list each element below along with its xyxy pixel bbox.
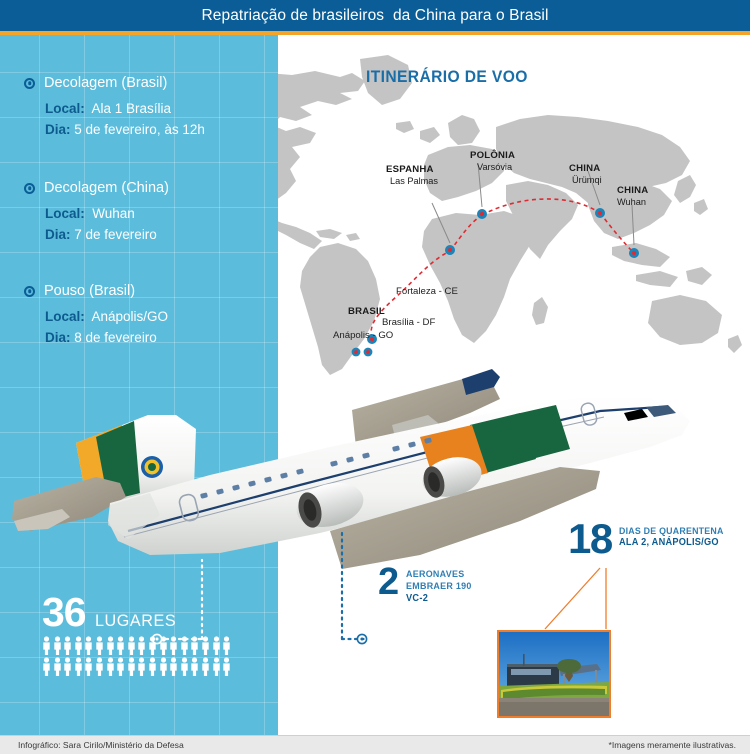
person-icon <box>127 657 136 676</box>
map-label-polonia-city: Varsóvia <box>477 162 512 172</box>
stat-seats-number: 36 <box>42 592 86 632</box>
stat-quarantine-lines: DIAS DE QUARENTENA ALA 2, ANÁPOLIS/GO <box>619 521 730 549</box>
stat-aircraft: 2 AERONAVES EMBRAER 190 VC-2 <box>378 566 476 605</box>
connector-aircraft-target-icon <box>357 634 366 643</box>
person-icon <box>201 657 210 676</box>
people-row <box>42 657 231 676</box>
info-local-line: Local: Ala 1 Brasília <box>45 98 274 119</box>
person-icon <box>74 636 83 655</box>
map-label-anapolis: Anápolis - GO <box>333 330 393 341</box>
stat-quarantine-number: 18 <box>568 521 612 557</box>
person-icon <box>137 636 146 655</box>
person-icon <box>53 636 62 655</box>
quarantine-facility-photo <box>497 630 611 718</box>
person-icon <box>137 657 146 676</box>
info-local-key: Local: <box>45 206 85 221</box>
person-icon <box>190 636 199 655</box>
left-panel-tail <box>0 715 278 735</box>
info-heading: Decolagem (Brasil) <box>24 75 274 91</box>
map-label-urumqi-city: Ürümqi <box>572 175 602 185</box>
person-icon <box>42 636 51 655</box>
info-dia-line: Dia: 7 de fevereiro <box>45 224 274 245</box>
person-icon <box>84 657 93 676</box>
person-icon <box>190 657 199 676</box>
person-icon <box>222 636 231 655</box>
info-block-decolagem-brasil: Decolagem (Brasil) Local: Ala 1 Brasília… <box>24 75 274 140</box>
info-local-value: Anápolis/GO <box>85 309 168 324</box>
page-title: Repatriação de brasileiros da China para… <box>201 7 548 25</box>
map-label-wuhan-city: Wuhan <box>617 197 646 207</box>
connector-quarantine-left <box>545 568 600 629</box>
info-local-value: Wuhan <box>85 206 135 221</box>
person-icon <box>116 636 125 655</box>
map-label-wuhan-country: CHINA <box>617 185 648 196</box>
info-heading: Pouso (Brasil) <box>24 283 274 299</box>
facility-photo-svg <box>499 632 609 716</box>
person-icon <box>212 657 221 676</box>
person-icon <box>169 657 178 676</box>
person-icon <box>212 636 221 655</box>
person-icon <box>63 636 72 655</box>
person-icon <box>53 657 62 676</box>
person-icon <box>116 657 125 676</box>
info-local-key: Local: <box>45 309 85 324</box>
person-icon <box>148 657 157 676</box>
header-accent-rule <box>0 31 750 35</box>
target-bullet-icon <box>24 183 35 194</box>
map-label-urumqi-country: CHINA <box>569 163 600 174</box>
infographic-root: ESPANHA Las Palmas POLÔNIA Varsóvia CHIN… <box>0 0 750 754</box>
stat-seats: 36 LUGARES <box>42 592 231 678</box>
map-label-espanha-country: ESPANHA <box>386 164 434 175</box>
map-label-polonia-country: POLÔNIA <box>470 150 515 161</box>
target-bullet-icon <box>24 78 35 89</box>
person-icon <box>95 636 104 655</box>
info-local-value: Ala 1 Brasília <box>85 101 171 116</box>
person-icon <box>95 657 104 676</box>
info-dia-value: 8 de fevereiro <box>71 330 157 345</box>
stat-quarantine-line1: DIAS DE QUARENTENA <box>619 525 724 537</box>
person-icon <box>106 657 115 676</box>
person-icon <box>180 657 189 676</box>
people-pictogram <box>42 636 231 676</box>
info-dia-value: 5 de fevereiro, às 12h <box>71 122 205 137</box>
info-dia-key: Dia: <box>45 122 71 137</box>
info-block-pouso-brasil: Pouso (Brasil) Local: Anápolis/GO Dia: 8… <box>24 283 274 348</box>
stat-aircraft-line1: AERONAVES <box>406 569 472 581</box>
map-section-title: ITINERÁRIO DE VOO <box>366 67 528 87</box>
info-heading-label: Pouso (Brasil) <box>44 283 135 299</box>
info-dia-line: Dia: 5 de fevereiro, às 12h <box>45 119 274 140</box>
footer-note: *Imagens meramente ilustrativas. <box>608 740 736 750</box>
person-icon <box>201 636 210 655</box>
info-local-line: Local: Wuhan <box>45 203 274 224</box>
stat-aircraft-line3: VC-2 <box>406 593 472 605</box>
info-dia-key: Dia: <box>45 330 71 345</box>
info-local-key: Local: <box>45 101 85 116</box>
info-heading-label: Decolagem (Brasil) <box>44 75 167 91</box>
person-icon <box>84 636 93 655</box>
stat-aircraft-number: 2 <box>378 566 398 599</box>
person-icon <box>127 636 136 655</box>
person-icon <box>148 636 157 655</box>
info-dia-key: Dia: <box>45 227 71 242</box>
stat-aircraft-line2: EMBRAER 190 <box>406 581 472 593</box>
info-dia-line: Dia: 8 de fevereiro <box>45 327 274 348</box>
header-bar: Repatriação de brasileiros da China para… <box>0 0 750 31</box>
person-icon <box>74 657 83 676</box>
person-icon <box>169 636 178 655</box>
stat-quarantine: 18 DIAS DE QUARENTENA ALA 2, ANÁPOLIS/GO <box>568 521 730 557</box>
person-icon <box>106 636 115 655</box>
person-icon <box>159 657 168 676</box>
person-icon <box>159 636 168 655</box>
map-label-brasil-country: BRASIL <box>348 306 385 317</box>
stat-seats-headline: 36 LUGARES <box>42 592 231 632</box>
info-heading: Decolagem (China) <box>24 180 274 196</box>
info-dia-value: 7 de fevereiro <box>71 227 157 242</box>
people-row <box>42 636 231 655</box>
person-icon <box>180 636 189 655</box>
footer-bar: Infográfico: Sara Cirilo/Ministério da D… <box>0 735 750 754</box>
info-local-line: Local: Anápolis/GO <box>45 306 274 327</box>
person-icon <box>63 657 72 676</box>
map-label-espanha-city: Las Palmas <box>390 176 438 186</box>
map-label-brasilia: Brasília - DF <box>382 317 435 328</box>
map-label-fortaleza: Fortaleza - CE <box>396 286 458 297</box>
info-block-decolagem-china: Decolagem (China) Local: Wuhan Dia: 7 de… <box>24 180 274 245</box>
stat-seats-label: LUGARES <box>95 611 176 631</box>
person-icon <box>222 657 231 676</box>
footer-credit: Infográfico: Sara Cirilo/Ministério da D… <box>18 740 184 750</box>
person-icon <box>42 657 51 676</box>
info-heading-label: Decolagem (China) <box>44 180 169 196</box>
target-bullet-icon <box>24 286 35 297</box>
stat-quarantine-line2: ALA 2, ANÁPOLIS/GO <box>619 537 724 549</box>
stat-aircraft-lines: AERONAVES EMBRAER 190 VC-2 <box>406 566 476 605</box>
